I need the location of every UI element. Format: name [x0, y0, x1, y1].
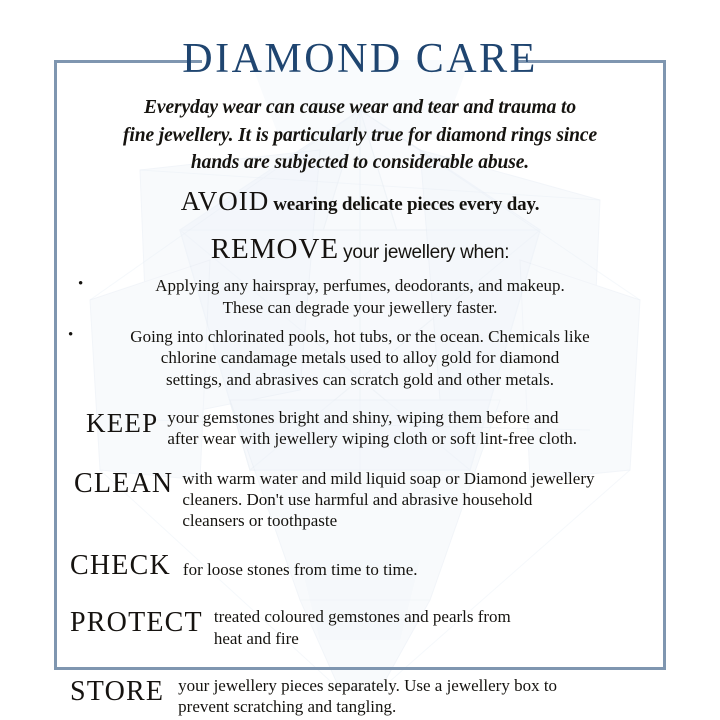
- keyword-store: STORE: [70, 675, 164, 706]
- bullet-line: settings, and abrasives can scratch gold…: [94, 369, 626, 391]
- keyword-avoid: AVOID: [181, 186, 270, 216]
- entry-clean-text: with warm water and mild liquid soap or …: [173, 468, 656, 532]
- bullet-line: Applying any hairspray, perfumes, deodor…: [94, 275, 626, 297]
- entry-line: your gemstones bright and shiny, wiping …: [167, 407, 648, 428]
- intro-paragraph: Everyday wear can cause wear and tear an…: [74, 94, 646, 177]
- entry-clean: CLEAN with warm water and mild liquid so…: [74, 468, 656, 532]
- entry-store-text: your jewellery pieces separately. Use a …: [164, 675, 656, 718]
- entry-keep-text: your gemstones bright and shiny, wiping …: [158, 407, 648, 450]
- intro-line: fine jewellery. It is particularly true …: [74, 122, 646, 150]
- page-title: DIAMOND CARE: [54, 38, 666, 80]
- bullet-line: chlorine candamage metals used to alloy …: [94, 347, 626, 369]
- bullet-icon: •: [78, 275, 83, 294]
- bullet-line: Going into chlorinated pools, hot tubs, …: [94, 326, 626, 348]
- entry-line: cleaners. Don't use harmful and abrasive…: [182, 489, 656, 510]
- headline-avoid-text: wearing delicate pieces every day.: [273, 194, 539, 215]
- entry-line: heat and fire: [214, 628, 656, 649]
- entry-line: prevent scratching and tangling.: [178, 696, 656, 717]
- headline-avoid: AVOID wearing delicate pieces every day.: [64, 185, 656, 219]
- entry-protect-text: treated coloured gemstones and pearls fr…: [203, 606, 656, 649]
- entry-line: after wear with jewellery wiping cloth o…: [167, 428, 648, 449]
- entry-line: treated coloured gemstones and pearls fr…: [214, 606, 656, 627]
- intro-line: Everyday wear can cause wear and tear an…: [74, 94, 646, 122]
- entry-line: cleansers or toothpaste: [182, 510, 656, 531]
- care-instructions-content: Everyday wear can cause wear and tear an…: [54, 94, 666, 718]
- keyword-clean: CLEAN: [74, 468, 173, 498]
- entry-keep: KEEP your gemstones bright and shiny, wi…: [86, 407, 656, 450]
- keyword-remove: REMOVE: [211, 233, 339, 265]
- diamond-care-card: DIAMOND CARE Everyday wear can cause wea…: [54, 60, 666, 670]
- keyword-check: CHECK: [70, 552, 171, 580]
- bullet-line: These can degrade your jewellery faster.: [94, 297, 626, 319]
- entry-protect: PROTECT treated coloured gemstones and p…: [70, 606, 656, 649]
- list-item: • Going into chlorinated pools, hot tubs…: [64, 326, 656, 391]
- entry-check-text: for loose stones from time to time.: [171, 552, 656, 580]
- entry-line: your jewellery pieces separately. Use a …: [178, 675, 656, 696]
- intro-line: hands are subjected to considerable abus…: [74, 149, 646, 177]
- keyword-keep: KEEP: [86, 407, 158, 437]
- entry-line: for loose stones from time to time.: [183, 559, 656, 580]
- list-item: • Applying any hairspray, perfumes, deod…: [64, 275, 656, 319]
- entry-line: with warm water and mild liquid soap or …: [182, 468, 656, 489]
- remove-bullet-list: • Applying any hairspray, perfumes, deod…: [64, 275, 656, 391]
- entry-check: CHECK for loose stones from time to time…: [70, 552, 656, 580]
- keyword-protect: PROTECT: [70, 606, 203, 637]
- bullet-icon: •: [68, 326, 73, 345]
- entry-store: STORE your jewellery pieces separately. …: [70, 675, 656, 718]
- headline-remove: REMOVE your jewellery when:: [64, 231, 656, 267]
- headline-remove-text: your jewellery when:: [343, 242, 509, 263]
